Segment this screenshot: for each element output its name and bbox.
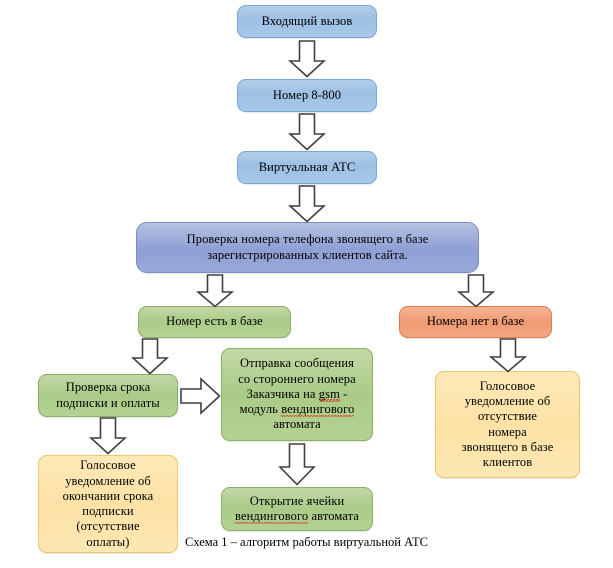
arrow-call-to-number (288, 40, 326, 78)
node-check-number-line1: Проверка номера телефона звонящего в баз… (187, 232, 429, 246)
arrow-not-in-base-to-voice-not-found (489, 338, 527, 373)
node-send-message[interactable]: Отправка сообщения со стороннего номера … (221, 348, 373, 441)
arrow-check-to-not-in-base (457, 274, 495, 308)
node-open-cell-line2-suffix: автомата (308, 509, 359, 523)
node-voice-not-found-line2: уведомление об (465, 394, 551, 408)
node-voice-not-found-line5: звонящего в базе (462, 440, 554, 454)
node-send-message-line1: Отправка сообщения (240, 356, 354, 370)
node-incoming-call-label: Входящий вызов (244, 14, 370, 29)
node-voice-expired-line3: окончании срока (63, 489, 154, 503)
arrow-subscription-to-send-message (180, 377, 221, 415)
diagram-caption: Схема 1 – алгоритм работы виртуальной АТ… (0, 535, 613, 550)
node-check-subscription[interactable]: Проверка срока подписки и оплаты (38, 374, 178, 417)
node-virtual-pbx[interactable]: Виртуальная АТС (237, 151, 377, 184)
node-number-8800-label: Номер 8-800 (244, 88, 370, 103)
node-check-subscription-line2: подписки и оплаты (56, 396, 160, 410)
arrow-subscription-to-voice-expired (89, 417, 127, 455)
arrow-pbx-to-check (288, 185, 326, 223)
node-send-message-gsm-misspelled: gsm (319, 387, 340, 402)
node-number-not-in-base[interactable]: Номера нет в базе (399, 306, 552, 338)
flowchart-canvas: Входящий вызов Номер 8-800 Виртуальная А… (0, 0, 613, 568)
node-voice-not-found-line3: отсутствие (478, 409, 537, 423)
arrow-check-to-in-base (196, 274, 234, 308)
arrow-number-to-pbx (288, 113, 326, 151)
node-number-in-base[interactable]: Номер есть в базе (138, 306, 291, 338)
node-send-message-line4-prefix: модуль (240, 402, 282, 416)
arrow-send-message-to-open-cell (278, 443, 316, 486)
node-voice-not-found-line1: Голосовое (480, 379, 535, 393)
node-send-message-line3-suffix: - (340, 387, 348, 401)
node-number-not-in-base-label: Номера нет в базе (406, 314, 545, 329)
node-voice-not-found-line6: клиентов (483, 455, 533, 469)
node-number-8800[interactable]: Номер 8-800 (237, 79, 377, 112)
node-send-message-line3-prefix: Заказчика на (247, 387, 319, 401)
node-send-message-line5: автомата (273, 417, 320, 431)
node-voice-not-found[interactable]: Голосовое уведомление об отсутствие номе… (435, 371, 580, 478)
node-open-cell-vending-misspelled: вендингового (235, 509, 308, 524)
node-check-subscription-line1: Проверка срока (66, 380, 151, 394)
node-voice-expired-line1: Голосовое (80, 458, 135, 472)
node-number-in-base-label: Номер есть в базе (145, 314, 284, 329)
node-open-cell[interactable]: Открытие ячейки вендингового автомата (221, 487, 373, 531)
node-check-number[interactable]: Проверка номера телефона звонящего в баз… (136, 222, 479, 273)
node-voice-expired-line4: подписки (82, 504, 133, 518)
node-voice-not-found-line4: номера (488, 425, 527, 439)
node-check-number-line2: зарегистрированных клиентов сайта. (207, 248, 408, 262)
node-send-message-vending-misspelled: вендингового (281, 402, 354, 417)
node-incoming-call[interactable]: Входящий вызов (237, 5, 377, 38)
node-send-message-line2: со стороннего номера (238, 372, 356, 386)
node-virtual-pbx-label: Виртуальная АТС (244, 160, 370, 175)
arrow-in-base-to-subscription (131, 338, 169, 375)
node-voice-expired-line2: уведомление об (65, 474, 151, 488)
node-open-cell-line1: Открытие ячейки (250, 494, 345, 508)
node-voice-expired-line5: (отсутствие (76, 519, 139, 533)
